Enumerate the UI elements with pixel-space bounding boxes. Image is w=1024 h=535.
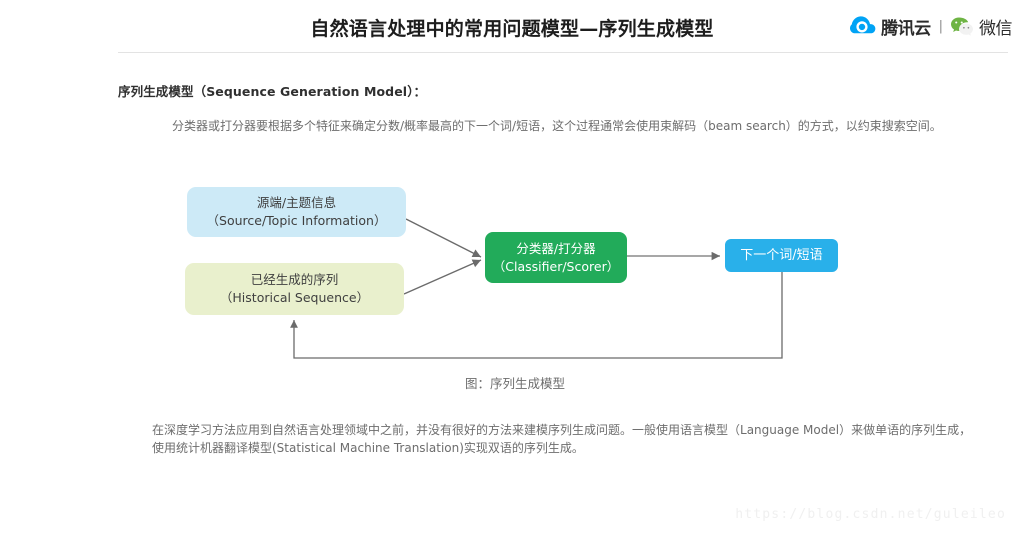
figure-caption: 图：序列生成模型 (150, 373, 880, 392)
node-source-label-cn: 源端/主题信息 (257, 194, 336, 211)
slide-header: 自然语言处理中的常用问题模型—序列生成模型 腾讯云 | 微信 (0, 0, 1024, 55)
node-source-topic-information: 源端/主题信息 （Source/Topic Information） (187, 187, 406, 237)
closing-paragraph: 在深度学习方法应用到自然语言处理领域中之前，并没有很好的方法来建模序列生成问题。… (152, 421, 972, 457)
brand-label-wechat: 微信 (979, 14, 1012, 39)
brand-label-tencent-cloud: 腾讯云 (881, 14, 931, 39)
header-divider (118, 52, 1008, 53)
brand-separator: | (939, 19, 943, 34)
slide-canvas: { "header": { "title": "自然语言处理中的常用问题模型—序… (0, 0, 1024, 535)
node-next-label-cn: 下一个词/短语 (740, 247, 822, 264)
lead-paragraph: 分类器或打分器要根据多个特征来确定分数/概率最高的下一个词/短语，这个过程通常会… (172, 117, 962, 135)
wechat-icon (950, 16, 974, 36)
node-next-word-phrase: 下一个词/短语 (725, 239, 838, 272)
node-historical-sequence: 已经生成的序列 （Historical Sequence） (185, 263, 404, 315)
node-history-label-en: （Historical Sequence） (220, 288, 369, 307)
closing-paragraph-line-1: 在深度学习方法应用到自然语言处理领域中之前，并没有很好的方法来建模序列生成问题。… (152, 421, 972, 439)
brand-lockup: 腾讯云 | 微信 (850, 11, 1012, 41)
node-classifier-label-en: （Classifier/Scorer） (493, 257, 619, 276)
section-heading: 序列生成模型（Sequence Generation Model）： (118, 81, 426, 100)
node-classifier-label-cn: 分类器/打分器 (516, 240, 595, 257)
edge-history-to-classifier (404, 260, 481, 294)
node-classifier-scorer: 分类器/打分器 （Classifier/Scorer） (485, 232, 627, 283)
sequence-generation-diagram: 源端/主题信息 （Source/Topic Information） 已经生成的… (150, 172, 880, 397)
watermark-url: https://blog.csdn.net/guleileo (735, 507, 1006, 522)
node-source-label-en: （Source/Topic Information） (207, 211, 387, 230)
edge-source-to-classifier (406, 219, 481, 257)
closing-paragraph-line-2: 使用统计机器翻译模型(Statistical Machine Translati… (152, 439, 972, 457)
node-history-label-cn: 已经生成的序列 (251, 271, 339, 288)
tencent-cloud-icon (850, 16, 876, 36)
